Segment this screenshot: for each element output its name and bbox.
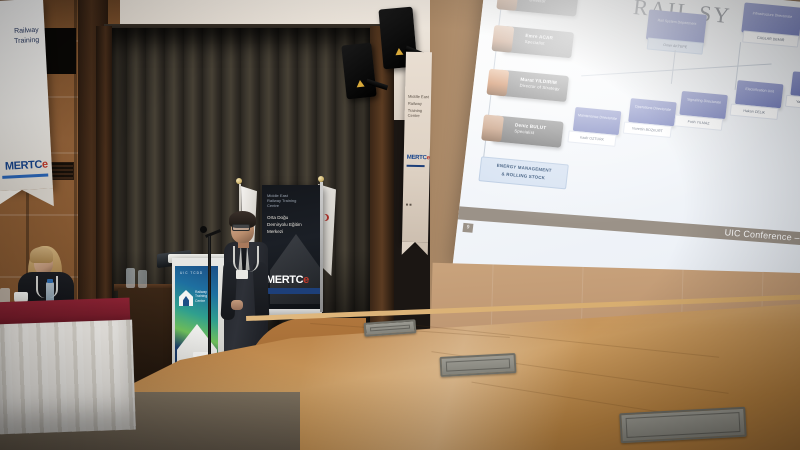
presenter-glasses (232, 224, 250, 231)
rollup-pole (320, 182, 323, 312)
person-role: Specialist (514, 128, 534, 135)
podium-text-1: Railway (195, 290, 207, 294)
cabinet-bottles (138, 270, 147, 288)
wall-flag-line3: Training Centre (408, 108, 431, 118)
hanging-banner-line1: Railway (14, 27, 39, 35)
person-avatar (496, 0, 519, 11)
org-connector (671, 50, 676, 84)
wall-flag-banner: Middle East Railway Training Centre MERT… (402, 52, 432, 243)
seated-woman-hair-front (30, 247, 53, 263)
rollup-banner: Middle East Railway Training Centre Orta… (262, 185, 322, 310)
wall-flag-line2: Railway (408, 101, 422, 106)
podium-graphic-text: Railway Training Centre (195, 290, 207, 303)
person-avatar (481, 114, 504, 142)
rollup-small-line3: Centre (267, 203, 279, 208)
hanging-banner-brand-accent: e (42, 158, 48, 170)
rollup-tr-line2: Demiryolu Eğitim (267, 222, 302, 228)
person-avatar (491, 25, 514, 53)
org-node-name: Yasin KARAHAN (785, 95, 800, 111)
water-bottle-cap (47, 279, 53, 283)
presenter-lanyard (233, 246, 259, 272)
rollup-brand: MERTCe (266, 274, 309, 286)
conference-hall-photo: Railway Training MERTCe Middle East Rail… (0, 0, 800, 450)
wall-flag-footer: ■ ■ (406, 202, 412, 207)
person-card: Deniz BULUT Specialist (491, 115, 564, 147)
person-card-text: Emre ACAR Specialist (524, 33, 570, 49)
department-label: ENERGY MANAGEMENT & ROLLING STOCK (478, 156, 569, 189)
person-card: Murat YILDIRIM Director of Strategy (496, 70, 569, 102)
projection-screen-area: RAIL SY Sema AKGUNDUZ Director Emre ACAR… (452, 0, 800, 308)
hanging-banner-line2: Training (14, 37, 39, 45)
slide-footer-text: UIC Conference – Ankara 2018 – P (724, 226, 800, 250)
presenter-badge (236, 270, 248, 279)
rollup-brand-accent: e (303, 274, 309, 286)
person-card-text: Deniz BULUT Specialist (514, 122, 560, 138)
rollup-brand-text: MERTC (266, 274, 303, 286)
org-connector (581, 63, 771, 76)
presenter-hand (231, 300, 243, 310)
person-card-text: Sema AKGUNDUZ Director (529, 0, 575, 7)
slide-footer-bar: UIC Conference – Ankara 2018 – P (452, 206, 800, 251)
person-card: Emre ACAR Specialist (501, 26, 574, 58)
presenter-right-arm (252, 262, 269, 321)
podium-text-2: Training (195, 294, 207, 298)
rollup-bottom-bar (266, 288, 320, 294)
wall-flag-brand: MERTC (407, 155, 427, 161)
stage-floor-hatch (440, 353, 517, 377)
hanging-banner-brand: MERTCe (5, 158, 48, 172)
department-label-line2: & ROLLING STOCK (501, 171, 545, 180)
head-table-skirt (0, 320, 136, 435)
cabinet-bottles (126, 268, 135, 288)
projection-screen: RAIL SY Sema AKGUNDUZ Director Emre ACAR… (452, 0, 800, 308)
crescent-icon (322, 214, 329, 221)
person-card-text: Murat YILDIRIM Director of Strategy (519, 77, 565, 93)
person-role: Director (529, 0, 546, 4)
wall-flag-line1: Middle East (408, 94, 429, 99)
rollup-tr-line3: Merkezi (267, 229, 283, 235)
wall-flag-logo: MERTCe (407, 146, 427, 159)
hanging-banner-rule (2, 173, 48, 178)
rollup-tr-line1: Orta Doğu (267, 215, 288, 221)
slide-page-chip: 9 (462, 223, 473, 233)
podium-text-3: Centre (195, 299, 205, 303)
microphone-head (200, 226, 207, 233)
wall-speaker-left (341, 43, 376, 100)
person-role: Specialist (524, 39, 544, 46)
hanging-banner-brand-text: MERTC (5, 159, 43, 173)
person-card: Sema AKGUNDUZ Director (506, 0, 579, 17)
person-avatar (486, 69, 509, 97)
podium-top-logos: UIC TCDD (180, 271, 203, 275)
wall-flag-brand-accent: e (427, 155, 430, 161)
